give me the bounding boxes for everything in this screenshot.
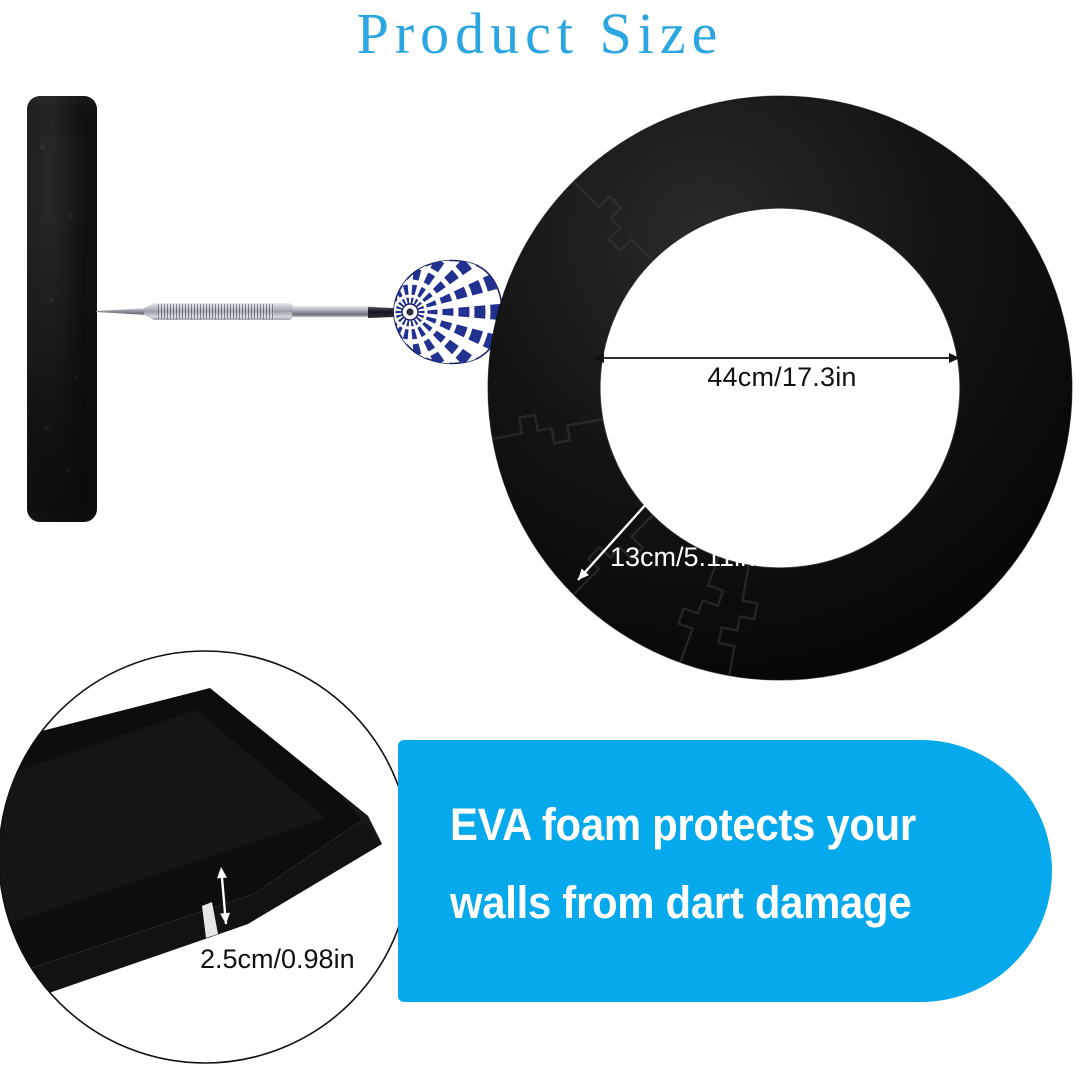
thickness-detail-magnifier — [0, 648, 414, 1066]
dimension-ring-width: 13cm/5.11in — [556, 488, 816, 598]
dimension-label-inner-diameter: 44cm/17.3in — [592, 362, 972, 393]
feature-banner-text: EVA foam protects your walls from dart d… — [450, 786, 971, 942]
infographic-canvas: Product Size — [0, 0, 1080, 1081]
dimension-thickness: 2.5cm/0.98in — [200, 866, 400, 986]
foam-test-strip — [27, 96, 97, 522]
steel-tip-dart — [96, 282, 456, 342]
dart-point-icon — [96, 308, 148, 315]
dimension-label-ring-width: 13cm/5.11in — [610, 542, 755, 573]
feature-banner: EVA foam protects your walls from dart d… — [398, 740, 1052, 1002]
dart-shaft — [292, 306, 376, 317]
dart-barrel — [144, 302, 296, 321]
page-title: Product Size — [0, 2, 1080, 66]
dimension-label-thickness: 2.5cm/0.98in — [200, 944, 355, 975]
dimension-inner-diameter: 44cm/17.3in — [592, 340, 972, 418]
